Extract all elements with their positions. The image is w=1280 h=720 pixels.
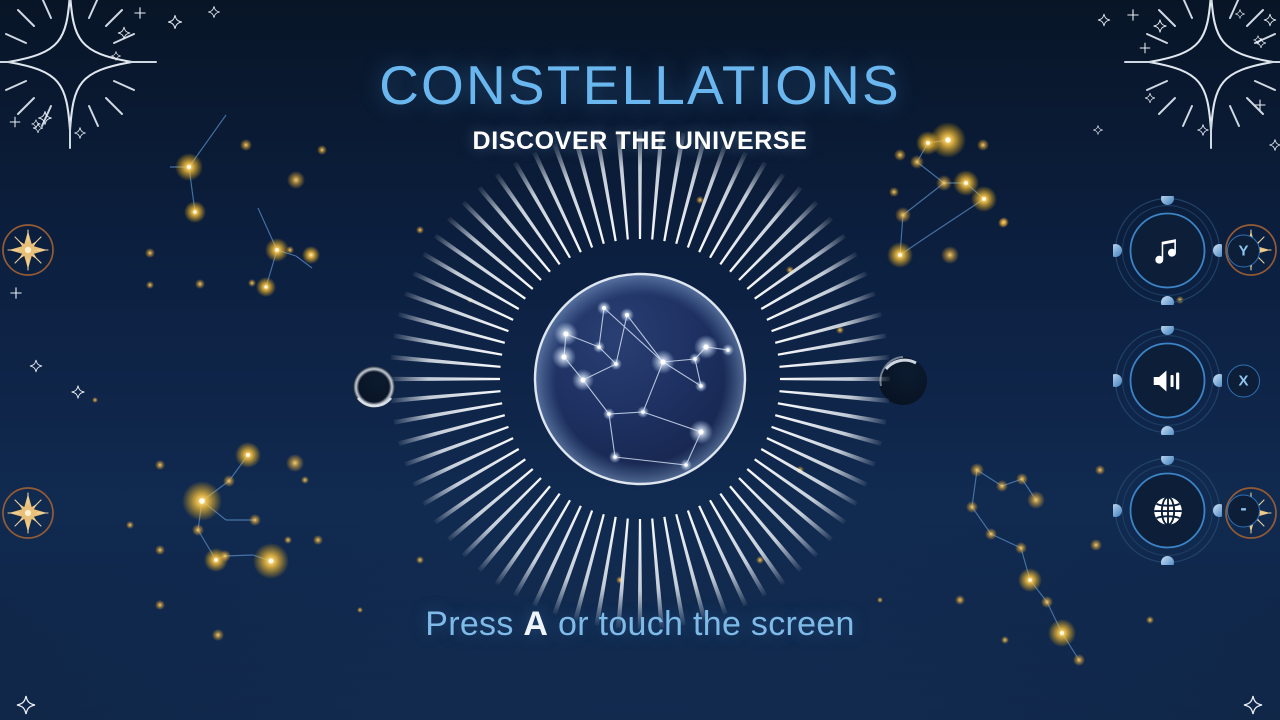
sound-button-ring bbox=[1113, 326, 1222, 435]
page-title: CONSTELLATIONS bbox=[0, 58, 1280, 113]
constellation-emblem bbox=[373, 112, 907, 646]
music-button-badge[interactable]: Y bbox=[1227, 234, 1260, 267]
music-button[interactable]: Y bbox=[1113, 196, 1222, 305]
music-button-ring bbox=[1113, 196, 1222, 305]
language-button-ring bbox=[1113, 456, 1222, 565]
title-block: CONSTELLATIONS DISCOVER THE UNIVERSE bbox=[0, 58, 1280, 156]
bottom-divider bbox=[17, 696, 1262, 714]
title-screen: CONSTELLATIONS DISCOVER THE UNIVERSE Pre… bbox=[0, 0, 1280, 720]
sound-button[interactable]: X bbox=[1113, 326, 1222, 435]
page-subtitle: DISCOVER THE UNIVERSE bbox=[0, 127, 1280, 156]
side-button-group: Y X bbox=[1113, 196, 1222, 565]
press-start-prompt[interactable]: Press A or touch the screen bbox=[0, 605, 1280, 644]
prompt-after: or touch the screen bbox=[548, 605, 855, 643]
sound-button-badge[interactable]: X bbox=[1227, 364, 1260, 397]
prompt-key-a: A bbox=[523, 605, 548, 643]
language-button-badge[interactable]: - bbox=[1227, 494, 1260, 527]
prompt-before: Press bbox=[425, 605, 523, 643]
left-divider bbox=[3, 198, 53, 572]
language-button[interactable]: - bbox=[1113, 456, 1222, 565]
